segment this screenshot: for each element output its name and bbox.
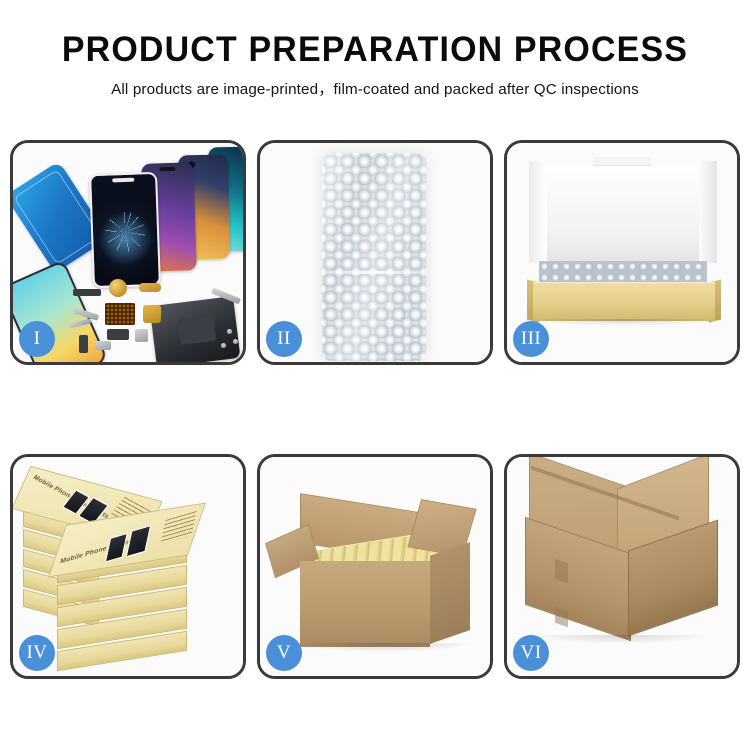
speaker-part-icon bbox=[109, 279, 127, 297]
flex-cable-icon bbox=[139, 283, 161, 292]
step-panel-5: V bbox=[257, 454, 493, 679]
bubble-wrap-package-icon bbox=[322, 153, 426, 361]
step-badge-1: I bbox=[19, 321, 55, 357]
carton-shadow bbox=[533, 635, 709, 644]
box-spec-lines bbox=[160, 511, 197, 545]
camera-module-icon bbox=[107, 329, 129, 340]
connector-part-icon bbox=[143, 305, 161, 323]
screw-icon bbox=[227, 329, 232, 334]
step-panel-4: Mobile Phone Spare Parts Mobile Phone Sp… bbox=[10, 454, 246, 679]
step-badge-6: VI bbox=[513, 635, 549, 671]
open-carton-icon bbox=[300, 561, 430, 647]
step-panel-6: VI bbox=[504, 454, 740, 679]
step-panel-2: II bbox=[257, 140, 493, 365]
small-bracket-icon bbox=[95, 341, 111, 350]
sim-tray-icon bbox=[79, 335, 88, 353]
screw-icon bbox=[233, 339, 238, 344]
step-panel-3: III bbox=[504, 140, 740, 365]
chip-array-icon bbox=[105, 303, 135, 325]
carton-tape-mark bbox=[555, 559, 568, 583]
bubble-sheen bbox=[322, 153, 426, 361]
box-screen-graphic bbox=[126, 525, 152, 557]
carton-shadow bbox=[296, 643, 472, 652]
step-badge-4: IV bbox=[19, 635, 55, 671]
step-panel-1: I bbox=[10, 140, 246, 365]
step-badge-2: II bbox=[266, 321, 302, 357]
battery-part-icon bbox=[73, 289, 101, 296]
carton-side-face bbox=[430, 542, 470, 644]
box-screen-graphic bbox=[105, 533, 128, 563]
screw-icon bbox=[221, 343, 226, 348]
step-badge-5: V bbox=[266, 635, 302, 671]
page-title: PRODUCT PREPARATION PROCESS bbox=[11, 30, 739, 70]
carton-tape-mark bbox=[555, 607, 568, 627]
kraft-inner-box-icon bbox=[533, 285, 715, 321]
glass-screen-icon bbox=[89, 172, 161, 288]
screw-plate-icon bbox=[135, 329, 148, 342]
white-box-lid-icon bbox=[529, 161, 717, 263]
step-badge-3: III bbox=[513, 321, 549, 357]
lid-tab-icon bbox=[593, 157, 651, 166]
page-header: PRODUCT PREPARATION PROCESS All products… bbox=[0, 0, 750, 99]
page-subtitle: All products are image-printed，film-coat… bbox=[0, 77, 750, 99]
box-shadow bbox=[531, 319, 719, 326]
process-steps-grid: I II III bbox=[10, 140, 740, 679]
